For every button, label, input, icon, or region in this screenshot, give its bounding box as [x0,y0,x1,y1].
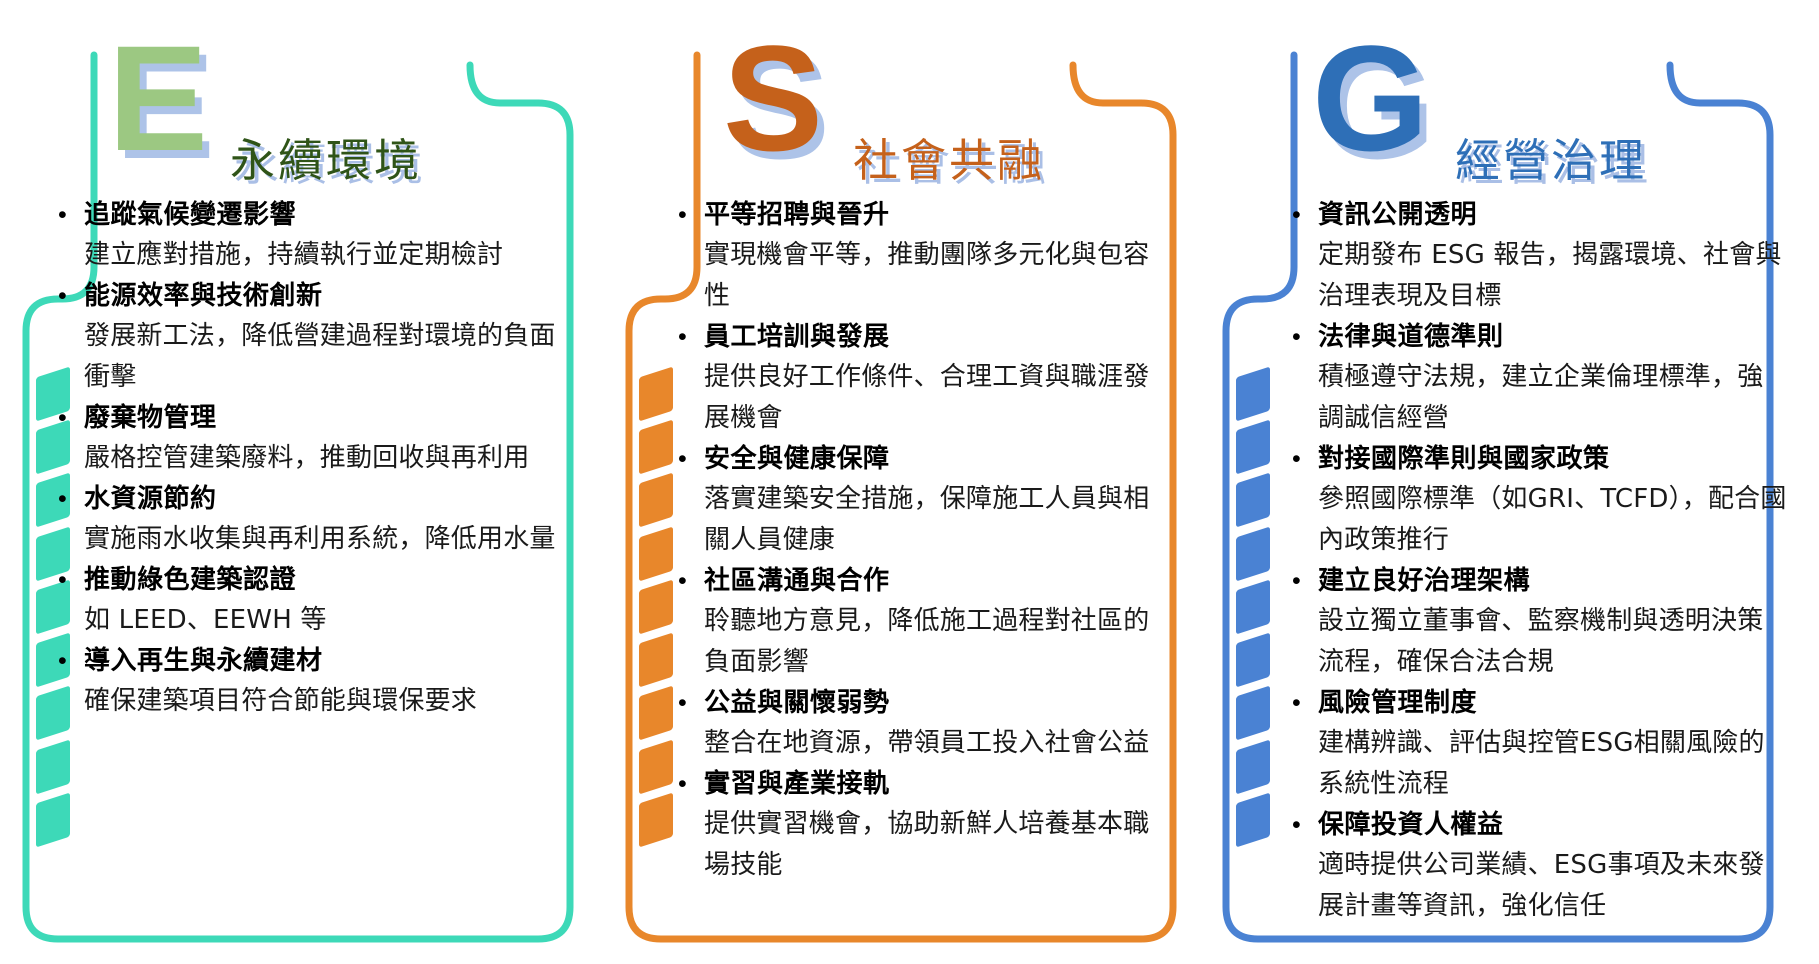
column-header-governance: G 經營治理 [1200,28,1800,178]
item-title: 導入再生與永續建材 [84,642,558,681]
bullet-icon: • [58,399,84,438]
item-description: 落實建築安全措施，保障施工人員與相關人員健康 [704,479,1168,561]
list-item: • 導入再生與永續建材 確保建築項目符合節能與環保要求 [58,642,558,722]
item-title: 追蹤氣候變遷影響 [84,196,558,235]
list-item: • 公益與關懷弱勢 整合在地資源，帶領員工投入社會公益 [678,684,1168,764]
accent-bars-social [639,372,673,842]
letter-badge-s: S [723,28,821,168]
bullet-icon: • [678,684,704,723]
item-title: 推動綠色建築認證 [84,561,558,600]
bullet-icon: • [678,765,704,804]
item-description: 提供良好工作條件、合理工資與職涯發展機會 [704,357,1168,439]
list-item: • 員工培訓與發展 提供良好工作條件、合理工資與職涯發展機會 [678,318,1168,439]
item-title: 建立良好治理架構 [1318,562,1787,601]
list-item: • 保障投資人權益 適時提供公司業績、ESG事項及未來發展計畫等資訊，強化信任 [1292,806,1787,927]
bullet-list-social: • 平等招聘與晉升 實現機會平等，推動團隊多元化與包容性 • 員工培訓與發展 提… [678,196,1168,887]
item-title: 公益與關懷弱勢 [704,684,1168,723]
item-title: 社區溝通與合作 [704,562,1168,601]
column-label-social: 社會共融 [853,124,1045,189]
item-description: 設立獨立董事會、監察機制與透明決策流程，確保合法合規 [1318,601,1787,683]
bullet-icon: • [1292,562,1318,601]
item-description: 如 LEED、EEWH 等 [84,600,558,641]
bullet-icon: • [58,561,84,600]
bullet-icon: • [58,277,84,316]
bullet-list-governance: • 資訊公開透明 定期發布 ESG 報告，揭露環境、社會與治理表現及目標 • 法… [1292,196,1787,928]
item-title: 安全與健康保障 [704,440,1168,479]
item-title: 平等招聘與晉升 [704,196,1168,235]
item-title: 實習與產業接軌 [704,765,1168,804]
esg-column-governance: G 經營治理 • 資訊公開透明 定期發布 ESG 報告，揭露環境、社會與治理表現… [1200,0,1800,964]
bullet-icon: • [678,196,704,235]
item-description: 整合在地資源，帶領員工投入社會公益 [704,723,1168,764]
item-description: 積極遵守法規，建立企業倫理標準，強調誠信經營 [1318,357,1787,439]
list-item: • 對接國際準則與國家政策 參照國際標準（如GRI、TCFD），配合國內政策推行 [1292,440,1787,561]
bullet-icon: • [58,480,84,519]
esg-infographic: E 永續環境 • 追蹤氣候變遷影響 建立應對措施，持續執行並定期檢討 • 能源效… [0,0,1819,964]
item-description: 適時提供公司業績、ESG事項及未來發展計畫等資訊，強化信任 [1318,845,1787,927]
item-description: 確保建築項目符合節能與環保要求 [84,681,558,722]
list-item: • 實習與產業接軌 提供實習機會，協助新鮮人培養基本職場技能 [678,765,1168,886]
item-title: 風險管理制度 [1318,684,1787,723]
esg-column-social: S 社會共融 • 平等招聘與晉升 實現機會平等，推動團隊多元化與包容性 • 員工… [603,0,1203,964]
list-item: • 風險管理制度 建構辨識、評估與控管ESG相關風險的系統性流程 [1292,684,1787,805]
item-title: 法律與道德準則 [1318,318,1787,357]
item-title: 能源效率與技術創新 [84,277,558,316]
bullet-icon: • [678,318,704,357]
item-title: 保障投資人權益 [1318,806,1787,845]
list-item: • 安全與健康保障 落實建築安全措施，保障施工人員與相關人員健康 [678,440,1168,561]
item-title: 資訊公開透明 [1318,196,1787,235]
bullet-icon: • [1292,806,1318,845]
list-item: • 推動綠色建築認證 如 LEED、EEWH 等 [58,561,558,641]
list-item: • 法律與道德準則 積極遵守法規，建立企業倫理標準，強調誠信經營 [1292,318,1787,439]
item-title: 廢棄物管理 [84,399,558,438]
bullet-list-environment: • 追蹤氣候變遷影響 建立應對措施，持續執行並定期檢討 • 能源效率與技術創新 … [58,196,558,723]
bullet-icon: • [58,196,84,235]
item-title: 水資源節約 [84,480,558,519]
item-description: 建立應對措施，持續執行並定期檢討 [84,235,558,276]
item-title: 對接國際準則與國家政策 [1318,440,1787,479]
list-item: • 建立良好治理架構 設立獨立董事會、監察機制與透明決策流程，確保合法合規 [1292,562,1787,683]
item-description: 實施雨水收集與再利用系統，降低用水量 [84,519,558,560]
letter-badge-g: G [1312,28,1427,168]
item-description: 聆聽地方意見，降低施工過程對社區的負面影響 [704,601,1168,683]
letter-badge-e: E [108,28,206,168]
bullet-icon: • [58,642,84,681]
item-description: 提供實習機會，協助新鮮人培養基本職場技能 [704,804,1168,886]
item-description: 實現機會平等，推動團隊多元化與包容性 [704,235,1168,317]
column-header-environment: E 永續環境 [0,28,600,178]
column-label-governance: 經營治理 [1455,124,1647,189]
bullet-icon: • [678,440,704,479]
list-item: • 社區溝通與合作 聆聽地方意見，降低施工過程對社區的負面影響 [678,562,1168,683]
esg-column-environment: E 永續環境 • 追蹤氣候變遷影響 建立應對措施，持續執行並定期檢討 • 能源效… [0,0,600,964]
list-item: • 廢棄物管理 嚴格控管建築廢料，推動回收與再利用 [58,399,558,479]
bullet-icon: • [678,562,704,601]
item-title: 員工培訓與發展 [704,318,1168,357]
item-description: 參照國際標準（如GRI、TCFD），配合國內政策推行 [1318,479,1787,561]
list-item: • 水資源節約 實施雨水收集與再利用系統，降低用水量 [58,480,558,560]
list-item: • 能源效率與技術創新 發展新工法，降低營建過程對環境的負面衝擊 [58,277,558,398]
list-item: • 平等招聘與晉升 實現機會平等，推動團隊多元化與包容性 [678,196,1168,317]
item-description: 定期發布 ESG 報告，揭露環境、社會與治理表現及目標 [1318,235,1787,317]
list-item: • 追蹤氣候變遷影響 建立應對措施，持續執行並定期檢討 [58,196,558,276]
bullet-icon: • [1292,684,1318,723]
list-item: • 資訊公開透明 定期發布 ESG 報告，揭露環境、社會與治理表現及目標 [1292,196,1787,317]
accent-bars-governance [1236,372,1270,842]
item-description: 嚴格控管建築廢料，推動回收與再利用 [84,438,558,479]
column-header-social: S 社會共融 [603,28,1203,178]
bullet-icon: • [1292,440,1318,479]
column-label-environment: 永續環境 [230,124,422,189]
item-description: 建構辨識、評估與控管ESG相關風險的系統性流程 [1318,723,1787,805]
bullet-icon: • [1292,196,1318,235]
bullet-icon: • [1292,318,1318,357]
item-description: 發展新工法，降低營建過程對環境的負面衝擊 [84,316,558,398]
